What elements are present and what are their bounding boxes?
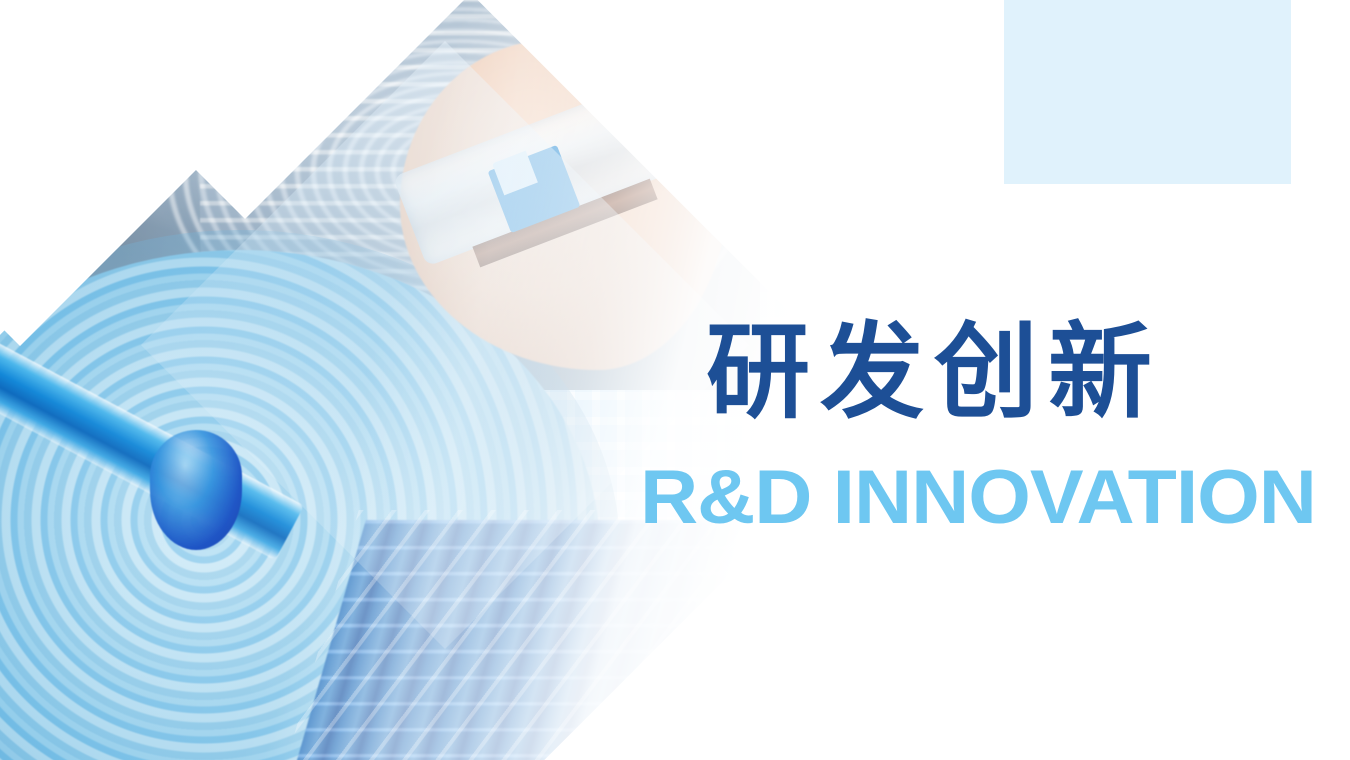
rd-innovation-banner: 恒瑞 研发创新 R&D INNOVATION (0, 0, 1350, 760)
headline-chinese: 研发创新 (706, 318, 1306, 426)
headline-english: R&D INNOVATION (640, 460, 1316, 536)
logo-plate: 恒瑞 (1004, 0, 1291, 184)
headline-block: 研发创新 R&D INNOVATION (706, 318, 1306, 426)
